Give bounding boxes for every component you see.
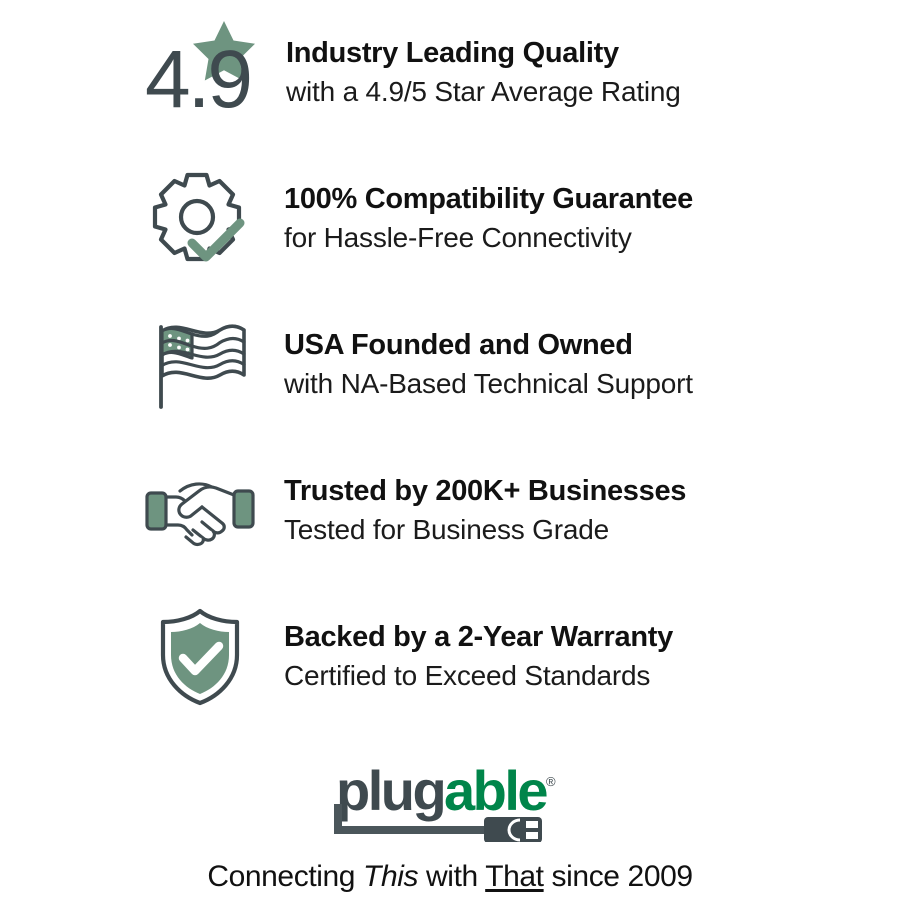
registered-trademark-mark: ®	[546, 774, 556, 789]
plugable-logo-svg: plug able ®	[334, 760, 566, 842]
logo-text-able: able	[444, 760, 547, 822]
feature-row: USA Founded and Owned with NA-Based Tech…	[0, 292, 900, 438]
tagline: Connecting This with That since 2009	[0, 860, 900, 894]
feature-text-block: Backed by a 2-Year Warranty Certified to…	[284, 619, 673, 695]
feature-subtitle: with NA-Based Technical Support	[284, 366, 693, 402]
tagline-underlined-word: That	[485, 860, 543, 893]
shield-check-icon	[140, 602, 260, 712]
feature-subtitle: for Hassle-Free Connectivity	[284, 220, 693, 256]
tagline-italic-word: This	[363, 860, 418, 893]
marketing-feature-panel: 4.9 Industry Leading Quality with a 4.9/…	[0, 0, 900, 900]
feature-subtitle: with a 4.9/5 Star Average Rating	[286, 74, 681, 110]
feature-text-block: Industry Leading Quality with a 4.9/5 St…	[286, 35, 681, 111]
gear-check-icon	[140, 164, 260, 274]
feature-text-block: 100% Compatibility Guarantee for Hassle-…	[284, 181, 693, 257]
feature-row: 4.9 Industry Leading Quality with a 4.9/…	[0, 0, 900, 146]
feature-subtitle: Tested for Business Grade	[284, 512, 686, 548]
feature-row: Backed by a 2-Year Warranty Certified to…	[0, 584, 900, 730]
feature-title: Backed by a 2-Year Warranty	[284, 619, 673, 656]
feature-title: Industry Leading Quality	[286, 35, 681, 72]
feature-row: 100% Compatibility Guarantee for Hassle-…	[0, 146, 900, 292]
tagline-part-three: since 2009	[544, 860, 693, 893]
tagline-part-two: with	[418, 860, 485, 893]
feature-text-block: Trusted by 200K+ Businesses Tested for B…	[284, 473, 686, 549]
usb-pin-bottom	[526, 832, 538, 839]
plugable-logo[interactable]: plug able ®	[0, 760, 900, 850]
logo-text-plug: plug	[336, 760, 444, 822]
feature-text-block: USA Founded and Owned with NA-Based Tech…	[284, 327, 693, 403]
handshake-icon	[140, 456, 260, 566]
usb-pin-top	[526, 821, 538, 828]
footer: plug able ® Connecting This with That si…	[0, 760, 900, 894]
tagline-part-one: Connecting	[207, 860, 363, 893]
usa-flag-icon	[140, 310, 260, 420]
feature-row: Trusted by 200K+ Businesses Tested for B…	[0, 438, 900, 584]
feature-title: 100% Compatibility Guarantee	[284, 181, 693, 218]
rating-star-icon: 4.9	[140, 18, 260, 128]
feature-title: Trusted by 200K+ Businesses	[284, 473, 686, 510]
feature-title: USA Founded and Owned	[284, 327, 693, 364]
feature-list: 4.9 Industry Leading Quality with a 4.9/…	[0, 0, 900, 730]
feature-subtitle: Certified to Exceed Standards	[284, 658, 673, 694]
rating-value: 4.9	[145, 34, 250, 125]
